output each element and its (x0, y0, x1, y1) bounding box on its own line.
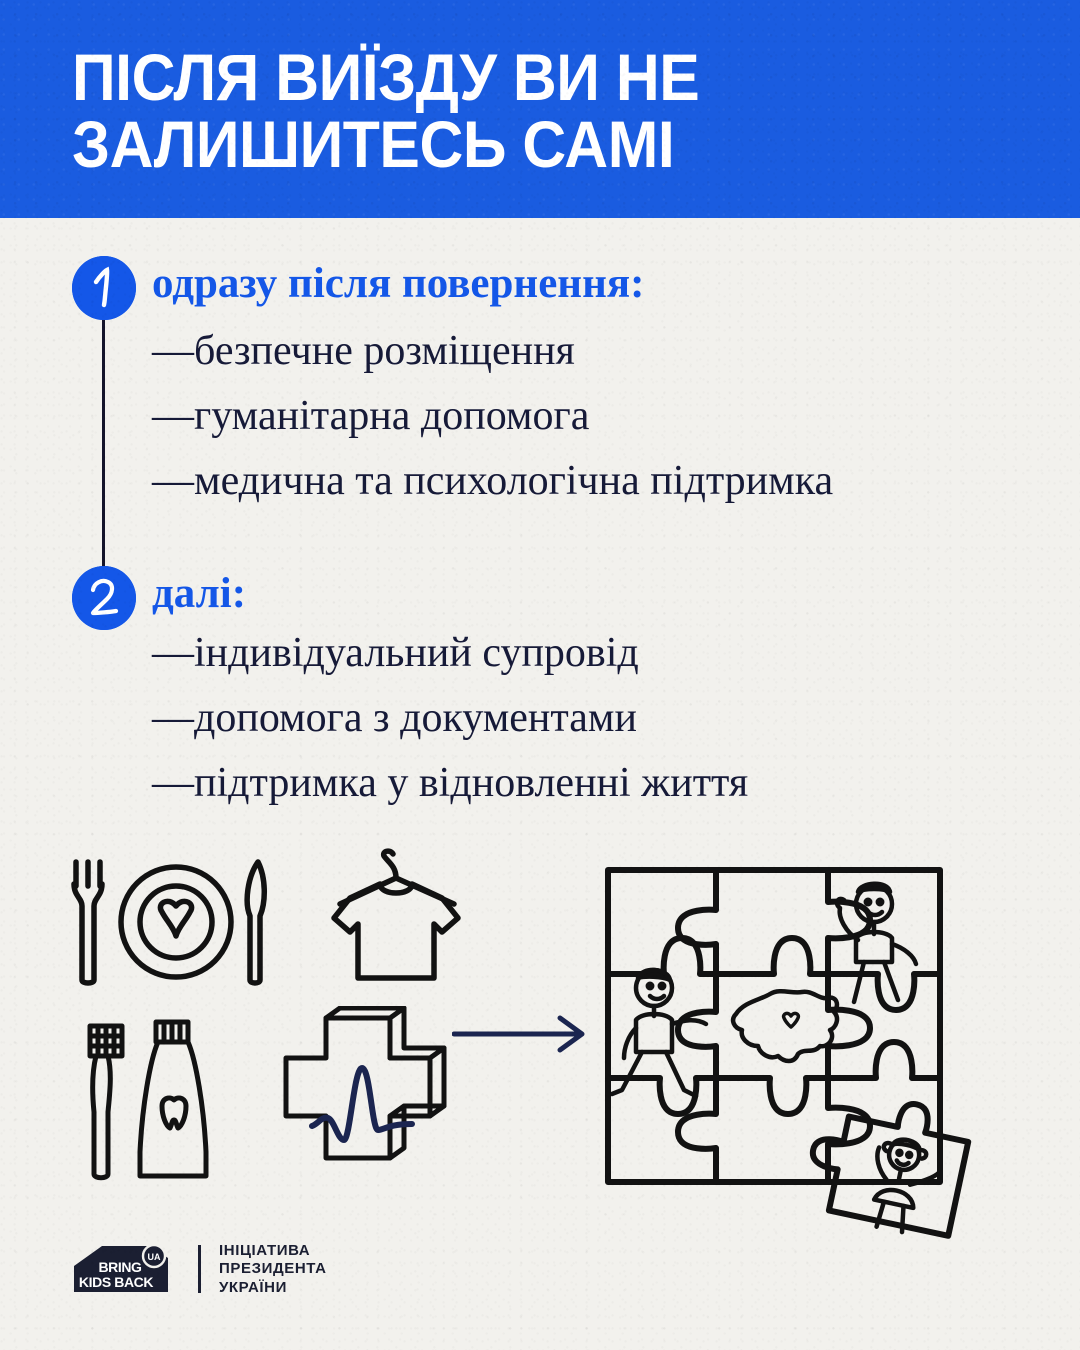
step-heading-2: далі: (152, 572, 246, 615)
logo-divider (198, 1245, 201, 1293)
tshirt-on-hanger-icon (318, 848, 478, 988)
step-items-1: — безпечне розміщення — гуманітарна допо… (152, 330, 833, 525)
list-item-label: медична та психологічна підтримка (194, 460, 833, 502)
toothbrush-toothpaste-icon (78, 1012, 228, 1184)
list-item-label: індивідуальний супровід (194, 632, 639, 674)
bring-kids-back-logo: UA BRING KIDS BACK (72, 1242, 180, 1296)
step-badge-2 (72, 566, 136, 630)
page-title: ПІСЛЯ ВИЇЗДУ ВИ НЕ ЗАЛИШИТЕСЬ САМІ (72, 44, 937, 179)
logo-line-2: KIDS BACK (79, 1274, 153, 1290)
footer-logo-block: UA BRING KIDS BACK ІНІЦІАТИВА ПРЕЗИДЕНТА… (72, 1242, 327, 1297)
fork-plate-heart-knife-icon (66, 856, 278, 988)
list-item: — гуманітарна допомога (152, 395, 833, 460)
list-item: — підтримка у відновленні життя (152, 762, 748, 827)
list-item-label: допомога з документами (194, 697, 637, 739)
list-item: — безпечне розміщення (152, 330, 833, 395)
step-badge-1 (72, 256, 136, 320)
list-item-label: підтримка у відновленні життя (194, 762, 748, 804)
list-item-label: безпечне розміщення (194, 330, 575, 372)
medical-cross-heartbeat-icon (278, 1006, 458, 1170)
bullet-dash: — (152, 762, 194, 804)
bullet-dash: — (152, 632, 194, 674)
bullet-dash: — (152, 460, 194, 502)
list-item: — медична та психологічна підтримка (152, 460, 833, 525)
puzzle-ukraine-children-illustration (588, 852, 988, 1242)
bullet-dash: — (152, 697, 194, 739)
logo-ua-badge: UA (148, 1252, 161, 1262)
list-item-label: гуманітарна допомога (194, 395, 589, 437)
bullet-dash: — (152, 330, 194, 372)
list-item: — індивідуальний супровід (152, 632, 748, 697)
step-heading-1: одразу після повернення: (152, 262, 644, 305)
step-connector-line (102, 300, 105, 590)
list-item: — допомога з документами (152, 697, 748, 762)
logo-line-1: BRING (98, 1259, 142, 1275)
logo-caption: ІНІЦІАТИВА ПРЕЗИДЕНТА УКРАЇНИ (219, 1242, 327, 1297)
right-arrow-icon (452, 1012, 592, 1056)
step-items-2: — індивідуальний супровід — допомога з д… (152, 632, 748, 827)
bullet-dash: — (152, 395, 194, 437)
poster-root: ПІСЛЯ ВИЇЗДУ ВИ НЕ ЗАЛИШИТЕСЬ САМІ одраз… (0, 0, 1080, 1350)
